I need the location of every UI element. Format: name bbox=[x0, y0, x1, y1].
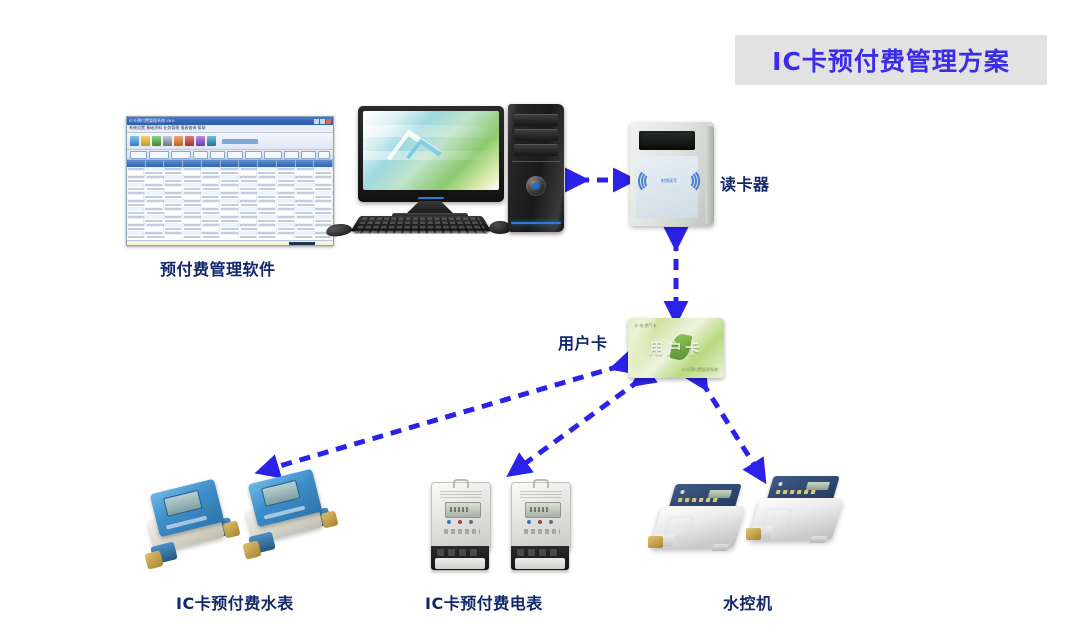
filter-field-4[interactable] bbox=[193, 151, 208, 159]
table-column-header bbox=[164, 160, 183, 167]
table-cell bbox=[147, 176, 164, 179]
table-cell bbox=[259, 191, 276, 195]
table-cell bbox=[184, 212, 201, 215]
table-cell bbox=[241, 180, 258, 183]
table-column-header bbox=[127, 160, 146, 167]
table-cell bbox=[316, 191, 333, 195]
app-data-table[interactable] bbox=[127, 160, 333, 240]
table-cell bbox=[241, 216, 258, 219]
table-cell bbox=[166, 223, 183, 227]
table-cell bbox=[203, 215, 220, 219]
table-column-header bbox=[258, 160, 277, 167]
table-column-header bbox=[183, 160, 202, 167]
table-cell bbox=[297, 192, 314, 195]
table-cell bbox=[258, 184, 275, 187]
table-cell bbox=[184, 224, 201, 227]
table-cell bbox=[221, 168, 238, 171]
table-cell bbox=[258, 196, 275, 199]
toolbar-icon-card-read[interactable] bbox=[174, 136, 183, 146]
table-cell bbox=[145, 172, 162, 175]
table-cell bbox=[296, 231, 313, 235]
table-cell bbox=[221, 211, 238, 215]
table-cell bbox=[203, 200, 220, 203]
card-reader-device[interactable]: 射频读写 bbox=[630, 122, 714, 226]
table-cell bbox=[165, 172, 182, 175]
table-cell bbox=[221, 192, 238, 195]
toolbar-icon-report[interactable] bbox=[196, 136, 205, 146]
table-cell bbox=[165, 180, 182, 183]
table-cell bbox=[296, 171, 313, 175]
table-cell bbox=[241, 228, 258, 231]
table-cell bbox=[221, 232, 238, 235]
table-column-header bbox=[296, 160, 315, 167]
table-cell bbox=[183, 219, 200, 223]
table-cell bbox=[147, 200, 164, 203]
table-cell bbox=[297, 168, 314, 171]
table-cell bbox=[315, 208, 332, 211]
table-cell bbox=[221, 220, 238, 223]
table-cell bbox=[259, 167, 276, 171]
table-cell bbox=[296, 207, 313, 211]
diagram-canvas: IC卡预付费管理方案 IC卡预付费管理系统 V8.0 系统设置 基础资料 业务管… bbox=[0, 0, 1066, 640]
table-cell bbox=[278, 228, 295, 231]
table-cell bbox=[297, 180, 314, 183]
toolbar-icon-open[interactable] bbox=[141, 136, 150, 146]
table-cell bbox=[278, 208, 295, 211]
table-cell bbox=[297, 204, 314, 207]
table-cell bbox=[128, 200, 145, 203]
table-cell bbox=[278, 196, 295, 199]
table-cell bbox=[184, 176, 201, 179]
water-meter-device[interactable] bbox=[148, 478, 240, 570]
table-cell bbox=[278, 184, 295, 187]
table-cell bbox=[145, 196, 162, 199]
table-cell bbox=[145, 220, 162, 223]
table-cell bbox=[128, 216, 145, 219]
card-reader-brand-text: 射频读写 bbox=[661, 178, 677, 184]
electric-meter-device[interactable] bbox=[505, 478, 579, 578]
filter-field-5[interactable] bbox=[210, 151, 225, 159]
table-cell bbox=[296, 183, 313, 187]
table-cell bbox=[221, 175, 238, 179]
table-cell bbox=[184, 168, 201, 171]
table-cell bbox=[315, 184, 332, 187]
table-cell bbox=[315, 200, 332, 203]
table-cell bbox=[278, 220, 295, 223]
table-cell bbox=[128, 188, 145, 191]
table-cell bbox=[183, 231, 200, 235]
toolbar-icon-user[interactable] bbox=[207, 136, 216, 146]
label-user-card: 用户卡 bbox=[558, 330, 608, 354]
table-column-header bbox=[221, 160, 240, 167]
table-cell bbox=[202, 184, 219, 187]
toolbar-icon-print[interactable] bbox=[163, 136, 172, 146]
filter-field-10[interactable] bbox=[301, 151, 316, 159]
table-cell bbox=[315, 176, 332, 179]
user-card-device[interactable]: 水·电·燃气卡 用户卡 IC卡预付费管理系统 bbox=[628, 318, 724, 378]
toolbar-icon-save[interactable] bbox=[152, 136, 161, 146]
table-cell bbox=[277, 223, 294, 227]
table-column-header bbox=[314, 160, 333, 167]
table-cell bbox=[221, 228, 238, 231]
filter-field-7[interactable] bbox=[245, 151, 262, 159]
table-cell bbox=[165, 196, 182, 199]
connector-card-electric-meter bbox=[516, 380, 640, 470]
keyboard[interactable] bbox=[351, 216, 492, 231]
table-cell bbox=[221, 216, 238, 219]
water-controller-device[interactable] bbox=[650, 482, 750, 560]
page-title: IC卡预付费管理方案 bbox=[772, 42, 1010, 78]
card-face-text: 用户卡 bbox=[649, 338, 703, 359]
table-cell bbox=[240, 200, 257, 203]
table-cell bbox=[202, 196, 219, 199]
table-cell bbox=[259, 176, 276, 179]
toolbar-icon-card-write[interactable] bbox=[185, 136, 194, 146]
table-cell bbox=[166, 211, 183, 215]
toolbar-icon-new[interactable] bbox=[130, 136, 139, 146]
table-cell bbox=[127, 171, 144, 175]
table-cell bbox=[184, 188, 201, 191]
table-cell bbox=[277, 199, 294, 203]
table-cell bbox=[315, 196, 332, 199]
table-cell bbox=[316, 179, 333, 183]
table-cell bbox=[259, 215, 276, 219]
table-cell bbox=[316, 215, 333, 219]
table-cell bbox=[203, 176, 220, 179]
table-cell bbox=[146, 203, 163, 207]
label-water-controller: 水控机 bbox=[723, 590, 773, 614]
connector-card-water-controller bbox=[702, 382, 760, 474]
electric-meter-device[interactable] bbox=[425, 478, 499, 578]
table-cell bbox=[278, 192, 295, 195]
table-cell bbox=[128, 192, 145, 195]
table-cell bbox=[259, 203, 276, 207]
table-cell bbox=[127, 231, 144, 235]
table-cell bbox=[128, 224, 145, 227]
filter-field-6[interactable] bbox=[227, 151, 244, 159]
table-cell bbox=[221, 208, 238, 211]
table-cell bbox=[128, 168, 145, 171]
table-cell bbox=[147, 224, 164, 227]
table-cell bbox=[145, 232, 162, 235]
table-cell bbox=[277, 187, 294, 191]
table-cell bbox=[241, 192, 258, 195]
table-cell bbox=[203, 212, 220, 215]
table-cell bbox=[295, 176, 312, 179]
card-reader-display bbox=[639, 131, 695, 150]
table-cell bbox=[165, 192, 182, 195]
table-cell bbox=[259, 212, 276, 215]
table-cell bbox=[240, 183, 257, 187]
table-cell bbox=[240, 231, 257, 235]
table-cell bbox=[277, 175, 294, 179]
app-toolbar[interactable] bbox=[127, 133, 333, 150]
table-cell bbox=[184, 200, 201, 203]
table-cell bbox=[241, 204, 258, 207]
table-column-header bbox=[239, 160, 258, 167]
table-cell bbox=[202, 220, 219, 223]
table-cell bbox=[128, 236, 145, 239]
table-cell bbox=[221, 187, 238, 191]
table-cell bbox=[259, 188, 276, 191]
table-cell bbox=[277, 211, 294, 215]
table-cell bbox=[127, 183, 144, 187]
table-cell bbox=[165, 184, 182, 187]
prepaid-management-software-screenshot[interactable]: IC卡预付费管理系统 V8.0 系统设置 基础资料 业务管理 报表查询 帮助 bbox=[126, 116, 334, 246]
table-cell bbox=[145, 184, 162, 187]
table-cell bbox=[146, 215, 163, 219]
table-cell bbox=[259, 236, 276, 239]
table-cell bbox=[259, 179, 276, 183]
table-header-row bbox=[127, 160, 333, 167]
table-cell bbox=[202, 208, 219, 211]
table-cell bbox=[127, 195, 144, 199]
app-window-title: IC卡预付费管理系统 V8.0 bbox=[129, 118, 174, 124]
table-cell bbox=[240, 236, 257, 239]
table-cell bbox=[127, 219, 144, 223]
table-cell bbox=[184, 180, 201, 183]
table-cell bbox=[221, 199, 238, 203]
table-cell bbox=[258, 172, 275, 175]
table-cell bbox=[166, 187, 183, 191]
table-cell bbox=[240, 171, 257, 175]
water-meter-device[interactable] bbox=[246, 468, 338, 560]
title-banner: IC卡预付费管理方案 bbox=[735, 35, 1047, 85]
table-cell bbox=[240, 219, 257, 223]
table-cell bbox=[203, 191, 220, 195]
monitor-power-led bbox=[418, 197, 444, 199]
table-cell bbox=[296, 219, 313, 223]
table-cell bbox=[146, 179, 163, 183]
table-cell bbox=[165, 228, 182, 231]
status-value bbox=[289, 242, 315, 246]
table-cell bbox=[259, 224, 276, 227]
table-cell bbox=[240, 224, 257, 227]
table-cell bbox=[202, 232, 219, 235]
table-cell bbox=[278, 172, 295, 175]
table-cell bbox=[165, 220, 182, 223]
table-cell bbox=[240, 207, 257, 211]
filter-field-8[interactable] bbox=[264, 151, 282, 159]
table-cell bbox=[258, 208, 275, 211]
rfid-wave-icon: 射频读写 bbox=[642, 170, 696, 192]
table-cell bbox=[221, 180, 238, 183]
table-cell bbox=[259, 227, 276, 231]
table-cell bbox=[295, 188, 312, 191]
table-cell bbox=[165, 204, 182, 207]
table-cell bbox=[297, 228, 314, 231]
table-cell bbox=[183, 195, 200, 199]
table-cell bbox=[146, 167, 163, 171]
table-cell bbox=[221, 223, 238, 227]
table-cell bbox=[221, 172, 238, 175]
filter-field-3[interactable] bbox=[171, 151, 191, 159]
table-cell bbox=[128, 228, 145, 231]
table-cell bbox=[315, 236, 332, 239]
table-body[interactable] bbox=[127, 167, 333, 240]
table-cell bbox=[128, 176, 145, 179]
table-cell bbox=[165, 208, 182, 211]
table-cell bbox=[165, 216, 182, 219]
filter-field-1[interactable] bbox=[130, 151, 147, 159]
table-cell bbox=[221, 196, 238, 199]
table-cell bbox=[166, 235, 183, 239]
desktop-computer[interactable] bbox=[358, 104, 568, 244]
table-cell bbox=[184, 228, 201, 231]
table-cell bbox=[315, 188, 332, 191]
table-cell bbox=[221, 235, 238, 239]
table-cell bbox=[184, 236, 201, 239]
app-menubar[interactable]: 系统设置 基础资料 业务管理 报表查询 帮助 bbox=[127, 125, 333, 133]
monitor-screen bbox=[363, 111, 499, 190]
table-cell bbox=[203, 236, 220, 239]
table-cell bbox=[146, 191, 163, 195]
table-cell bbox=[202, 172, 219, 175]
label-electric-meter: IC卡预付费电表 bbox=[425, 590, 543, 614]
table-cell bbox=[295, 200, 312, 203]
table-cell bbox=[128, 204, 145, 207]
table-cell bbox=[183, 183, 200, 187]
table-column-header bbox=[277, 160, 296, 167]
table-cell bbox=[165, 168, 182, 171]
table-cell bbox=[183, 207, 200, 211]
table-cell bbox=[147, 188, 164, 191]
table-cell bbox=[127, 207, 144, 211]
card-micro-bottom-text: IC卡预付费管理系统 bbox=[682, 367, 718, 373]
table-cell bbox=[166, 175, 183, 179]
table-cell bbox=[203, 167, 220, 171]
table-cell bbox=[240, 195, 257, 199]
app-menu-items: 系统设置 基础资料 业务管理 报表查询 帮助 bbox=[129, 125, 205, 131]
table-cell bbox=[296, 195, 313, 199]
table-column-header bbox=[202, 160, 221, 167]
table-cell bbox=[278, 168, 295, 171]
card-micro-top-text: 水·电·燃气卡 bbox=[634, 323, 657, 329]
table-cell bbox=[278, 232, 295, 235]
filter-field-9[interactable] bbox=[284, 151, 299, 159]
table-row[interactable] bbox=[127, 235, 333, 239]
table-cell bbox=[241, 168, 258, 171]
table-cell bbox=[221, 184, 238, 187]
table-column-header bbox=[146, 160, 165, 167]
table-cell bbox=[184, 216, 201, 219]
table-cell bbox=[203, 224, 220, 227]
table-cell bbox=[128, 212, 145, 215]
power-button-icon[interactable] bbox=[526, 176, 546, 196]
app-filter-bar[interactable] bbox=[127, 150, 333, 160]
monitor bbox=[358, 106, 504, 202]
table-cell bbox=[315, 172, 332, 175]
toolbar-search-field[interactable] bbox=[222, 139, 258, 144]
table-cell bbox=[315, 220, 332, 223]
table-cell bbox=[184, 192, 201, 195]
label-prepaid-software: 预付费管理软件 bbox=[160, 256, 276, 280]
filter-field-2[interactable] bbox=[149, 151, 169, 159]
table-cell bbox=[240, 188, 257, 191]
table-cell bbox=[240, 212, 257, 215]
table-cell bbox=[240, 176, 257, 179]
table-cell bbox=[128, 180, 145, 183]
table-cell bbox=[316, 203, 333, 207]
table-cell bbox=[166, 199, 183, 203]
table-cell bbox=[259, 200, 276, 203]
table-cell bbox=[145, 208, 162, 211]
app-status-bar bbox=[127, 240, 333, 246]
table-cell bbox=[203, 188, 220, 191]
table-cell bbox=[165, 232, 182, 235]
table-cell bbox=[203, 227, 220, 231]
table-cell bbox=[146, 227, 163, 231]
table-cell bbox=[183, 171, 200, 175]
table-cell bbox=[315, 212, 332, 215]
table-cell bbox=[295, 236, 312, 239]
water-controller-device[interactable] bbox=[748, 474, 848, 552]
computer-tower[interactable] bbox=[508, 104, 564, 232]
filter-button-query[interactable] bbox=[318, 151, 330, 159]
table-cell bbox=[278, 216, 295, 219]
connector-card-water-meter bbox=[266, 366, 620, 470]
table-cell bbox=[203, 179, 220, 183]
table-cell bbox=[184, 204, 201, 207]
table-cell bbox=[278, 180, 295, 183]
table-cell bbox=[278, 204, 295, 207]
label-card-reader: 读卡器 bbox=[720, 171, 770, 195]
table-cell bbox=[316, 167, 333, 171]
table-cell bbox=[297, 216, 314, 219]
table-cell bbox=[295, 212, 312, 215]
window-controls[interactable] bbox=[314, 119, 331, 124]
app-titlebar: IC卡预付费管理系统 V8.0 bbox=[127, 117, 333, 125]
table-cell bbox=[277, 235, 294, 239]
table-cell bbox=[203, 203, 220, 207]
table-cell bbox=[258, 220, 275, 223]
table-cell bbox=[258, 232, 275, 235]
table-cell bbox=[147, 212, 164, 215]
table-cell bbox=[295, 224, 312, 227]
table-cell bbox=[147, 236, 164, 239]
table-cell bbox=[221, 204, 238, 207]
label-water-meter: IC卡预付费水表 bbox=[176, 590, 294, 614]
